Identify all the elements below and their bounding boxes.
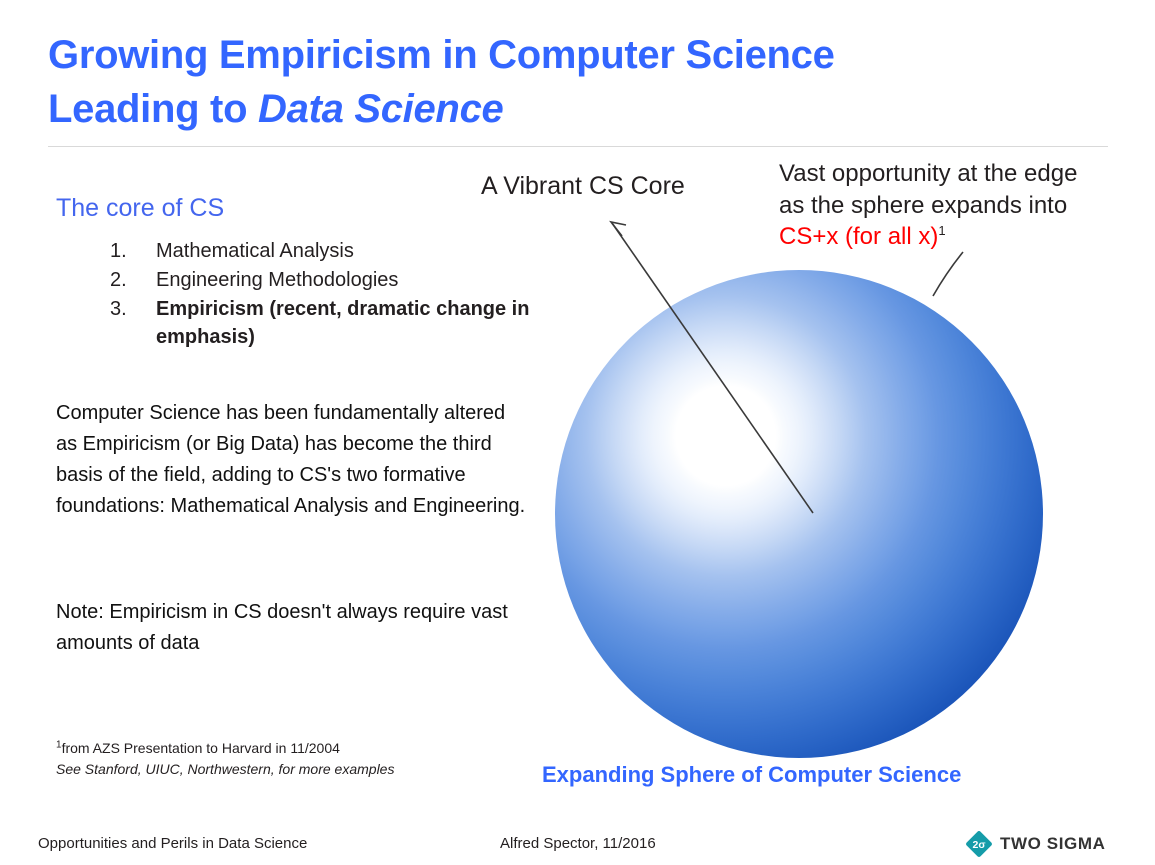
- body-paragraph-main: Computer Science has been fundamentally …: [56, 398, 526, 522]
- callout-vast-opportunity-line-2: as the sphere expands into: [779, 190, 1155, 222]
- footer-divider: [0, 812, 1155, 813]
- footnote-line-1: 1from AZS Presentation to Harvard in 11/…: [56, 738, 536, 759]
- callout-vibrant-cs-core: A Vibrant CS Core: [481, 172, 685, 201]
- sphere-caption: Expanding Sphere of Computer Science: [542, 762, 961, 788]
- page-title-line-1: Growing Empiricism in Computer Science: [48, 28, 1048, 82]
- list-item-label: Mathematical Analysis: [156, 238, 550, 265]
- two-sigma-logo: 2σ TWO SIGMA: [966, 831, 1106, 857]
- page-title-line-2: Leading to Data Science: [48, 82, 1048, 136]
- list-item: 3. Empiricism (recent, dramatic change i…: [110, 296, 550, 350]
- body-paragraph-note: Note: Empiricism in CS doesn't always re…: [56, 597, 526, 659]
- page-title-line-2-prefix: Leading to: [48, 87, 258, 131]
- list-item-number: 2.: [110, 267, 156, 294]
- core-of-cs-list: 1. Mathematical Analysis 2. Engineering …: [110, 238, 550, 353]
- footnote-line-2: See Stanford, UIUC, Northwestern, for mo…: [56, 759, 536, 780]
- callout-vast-opportunity: Vast opportunity at the edge as the sphe…: [779, 158, 1155, 253]
- list-item-number: 1.: [110, 238, 156, 265]
- callout-cs-plus-x-footnote-marker: 1: [938, 223, 945, 238]
- sphere-shape: [555, 270, 1043, 758]
- footnote-block: 1from AZS Presentation to Harvard in 11/…: [56, 738, 536, 780]
- leader-line-core-arrowhead: [611, 222, 626, 236]
- list-item-label: Empiricism (recent, dramatic change in e…: [156, 296, 550, 350]
- callout-vast-opportunity-line-1: Vast opportunity at the edge: [779, 158, 1155, 190]
- list-item: 1. Mathematical Analysis: [110, 238, 550, 265]
- page-title: Growing Empiricism in Computer Science L…: [48, 28, 1048, 136]
- core-of-cs-heading: The core of CS: [56, 194, 224, 223]
- two-sigma-glyph: 2σ: [972, 839, 985, 851]
- footnote-line-1-text: from AZS Presentation to Harvard in 11/2…: [62, 740, 340, 756]
- list-item: 2. Engineering Methodologies: [110, 267, 550, 294]
- list-item-number: 3.: [110, 296, 156, 323]
- two-sigma-diamond-icon: 2σ: [966, 831, 992, 857]
- title-divider: [48, 146, 1108, 147]
- expanding-sphere-graphic: [555, 270, 1043, 758]
- footer-author-date: Alfred Spector, 11/2016: [500, 835, 656, 852]
- callout-cs-plus-x: CS+x (for all x): [779, 223, 938, 250]
- page-title-emphasis: Data Science: [258, 87, 503, 131]
- slide-canvas: Growing Empiricism in Computer Science L…: [0, 0, 1155, 865]
- list-item-label: Engineering Methodologies: [156, 267, 550, 294]
- footer-presentation-title: Opportunities and Perils in Data Science: [38, 835, 307, 852]
- callout-vast-opportunity-line-3: CS+x (for all x)1: [779, 221, 1155, 253]
- two-sigma-wordmark: TWO SIGMA: [1000, 834, 1106, 854]
